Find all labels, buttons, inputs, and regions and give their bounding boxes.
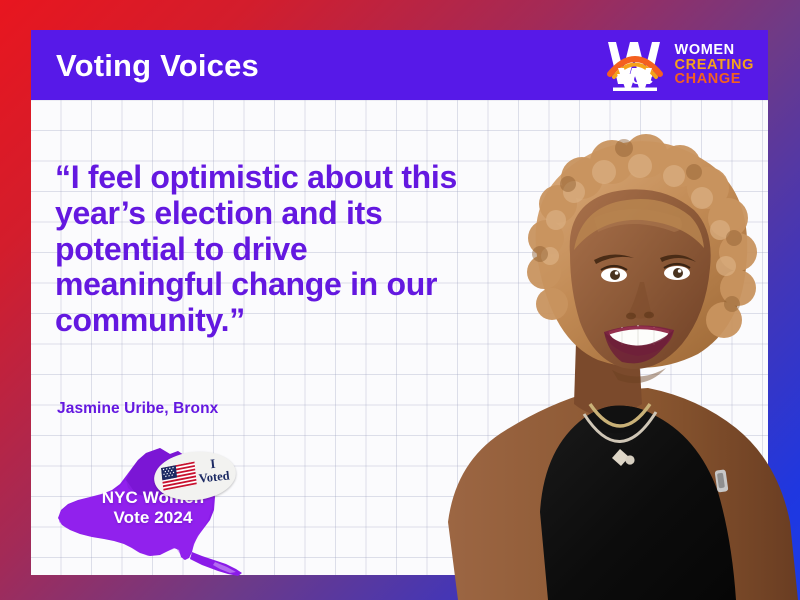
portrait-photo [398, 92, 798, 600]
header-bar: Voting Voices WCC WOMEN CREATING CHANGE [31, 30, 768, 100]
logo-line-creating: CREATING [675, 58, 754, 73]
badge-line-2: Vote 2024 [78, 508, 228, 528]
logo-line-change: CHANGE [675, 72, 754, 87]
voting-voices-graphic: “I feel optimistic about this year’s ele… [0, 0, 800, 600]
wcc-logo-mark-icon: WCC [604, 36, 666, 94]
wcc-logo[interactable]: WCC WOMEN CREATING CHANGE [604, 36, 754, 94]
i-voted-sticker: I Voted [152, 448, 239, 504]
wcc-logo-mark-text: WCC [617, 71, 653, 88]
page-title: Voting Voices [56, 50, 259, 81]
nyc-women-vote-badge: NYC Women Vote 2024 [52, 440, 262, 585]
quote-attribution: Jasmine Uribe, Bronx [57, 400, 218, 418]
wcc-logo-wordmark: WOMEN CREATING CHANGE [675, 43, 754, 87]
logo-line-women: WOMEN [675, 43, 754, 58]
sticker-label: I Voted [193, 455, 234, 486]
portrait-illustration [398, 92, 798, 600]
